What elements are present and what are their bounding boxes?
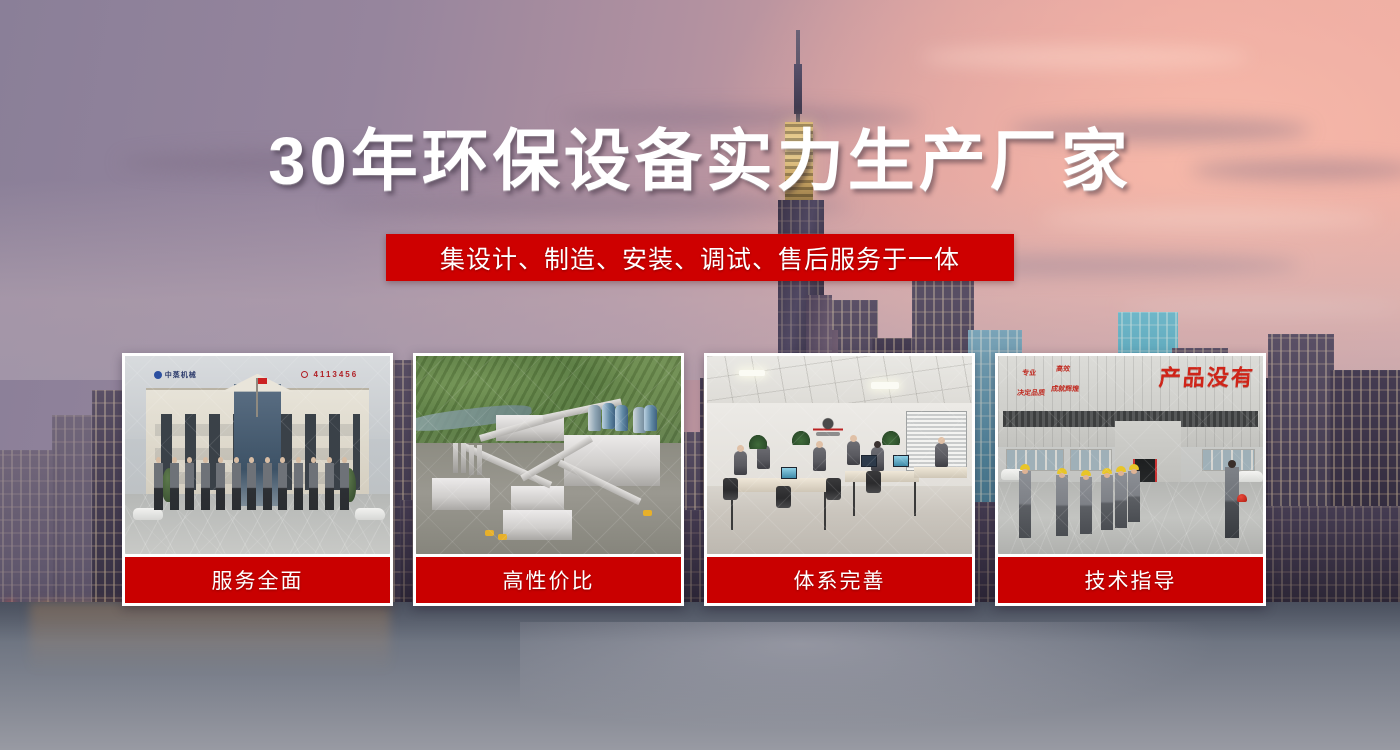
card-label-text: 服务全面	[212, 565, 304, 595]
supervisor	[1225, 467, 1239, 538]
factory-slogan-small: 专业	[1021, 370, 1036, 379]
card-label: 高性价比	[416, 557, 681, 603]
factory-slogan-large: 产品没有	[1158, 360, 1256, 392]
aerial-industrial-plant-photo	[416, 356, 681, 554]
red-helmet-icon	[1237, 494, 1247, 502]
river-water	[0, 602, 1400, 750]
water-reflection	[520, 622, 1220, 732]
worker	[1101, 475, 1113, 530]
card-label: 服务全面	[125, 557, 390, 603]
subtitle-text: 集设计、制造、安装、调试、售后服务于一体	[440, 240, 960, 276]
office-building-staff-photo: 中蒸机械 4113456	[125, 356, 390, 554]
feature-card[interactable]: 高性价比	[413, 353, 684, 606]
staff-row	[154, 463, 361, 510]
page-title: 30年环保设备实力生产厂家	[0, 128, 1400, 195]
building-phone-text: 4113456	[314, 370, 359, 379]
light-reflection	[30, 602, 390, 672]
feature-card[interactable]: 中蒸机械 4113456 服务全面	[122, 353, 393, 606]
worker	[1019, 471, 1031, 538]
feature-card-list: 中蒸机械 4113456 服务全面	[122, 353, 1278, 606]
office-interior-staff-photo	[707, 356, 972, 554]
workers-factory-training-photo: 产品没有 专业 决定品质 高效 成就辉煌	[998, 356, 1263, 554]
promo-banner: 30年环保设备实力生产厂家 集设计、制造、安装、调试、售后服务于一体 中蒸机械 …	[0, 0, 1400, 750]
card-label-text: 技术指导	[1085, 565, 1177, 595]
card-label-text: 高性价比	[503, 565, 595, 595]
factory-slogan-small: 成就辉煌	[1051, 386, 1080, 395]
worker	[1080, 477, 1092, 534]
card-label: 体系完善	[707, 557, 972, 603]
factory-slogan-small: 决定品质	[1016, 390, 1045, 399]
wall-emblem-icon	[813, 413, 843, 441]
card-label-text: 体系完善	[794, 565, 886, 595]
worker	[1128, 471, 1140, 522]
card-label: 技术指导	[998, 557, 1263, 603]
phone-icon	[301, 371, 308, 378]
factory-slogan-small: 高效	[1056, 366, 1071, 375]
cloud	[920, 46, 1250, 68]
feature-card[interactable]: 体系完善	[704, 353, 975, 606]
worker	[1056, 475, 1068, 536]
worker	[1115, 473, 1127, 528]
company-logo-icon	[154, 371, 162, 379]
subtitle-banner: 集设计、制造、安装、调试、售后服务于一体	[386, 234, 1014, 281]
feature-card[interactable]: 产品没有 专业 决定品质 高效 成就辉煌	[995, 353, 1266, 606]
building-sign-text: 中蒸机械	[165, 370, 197, 380]
